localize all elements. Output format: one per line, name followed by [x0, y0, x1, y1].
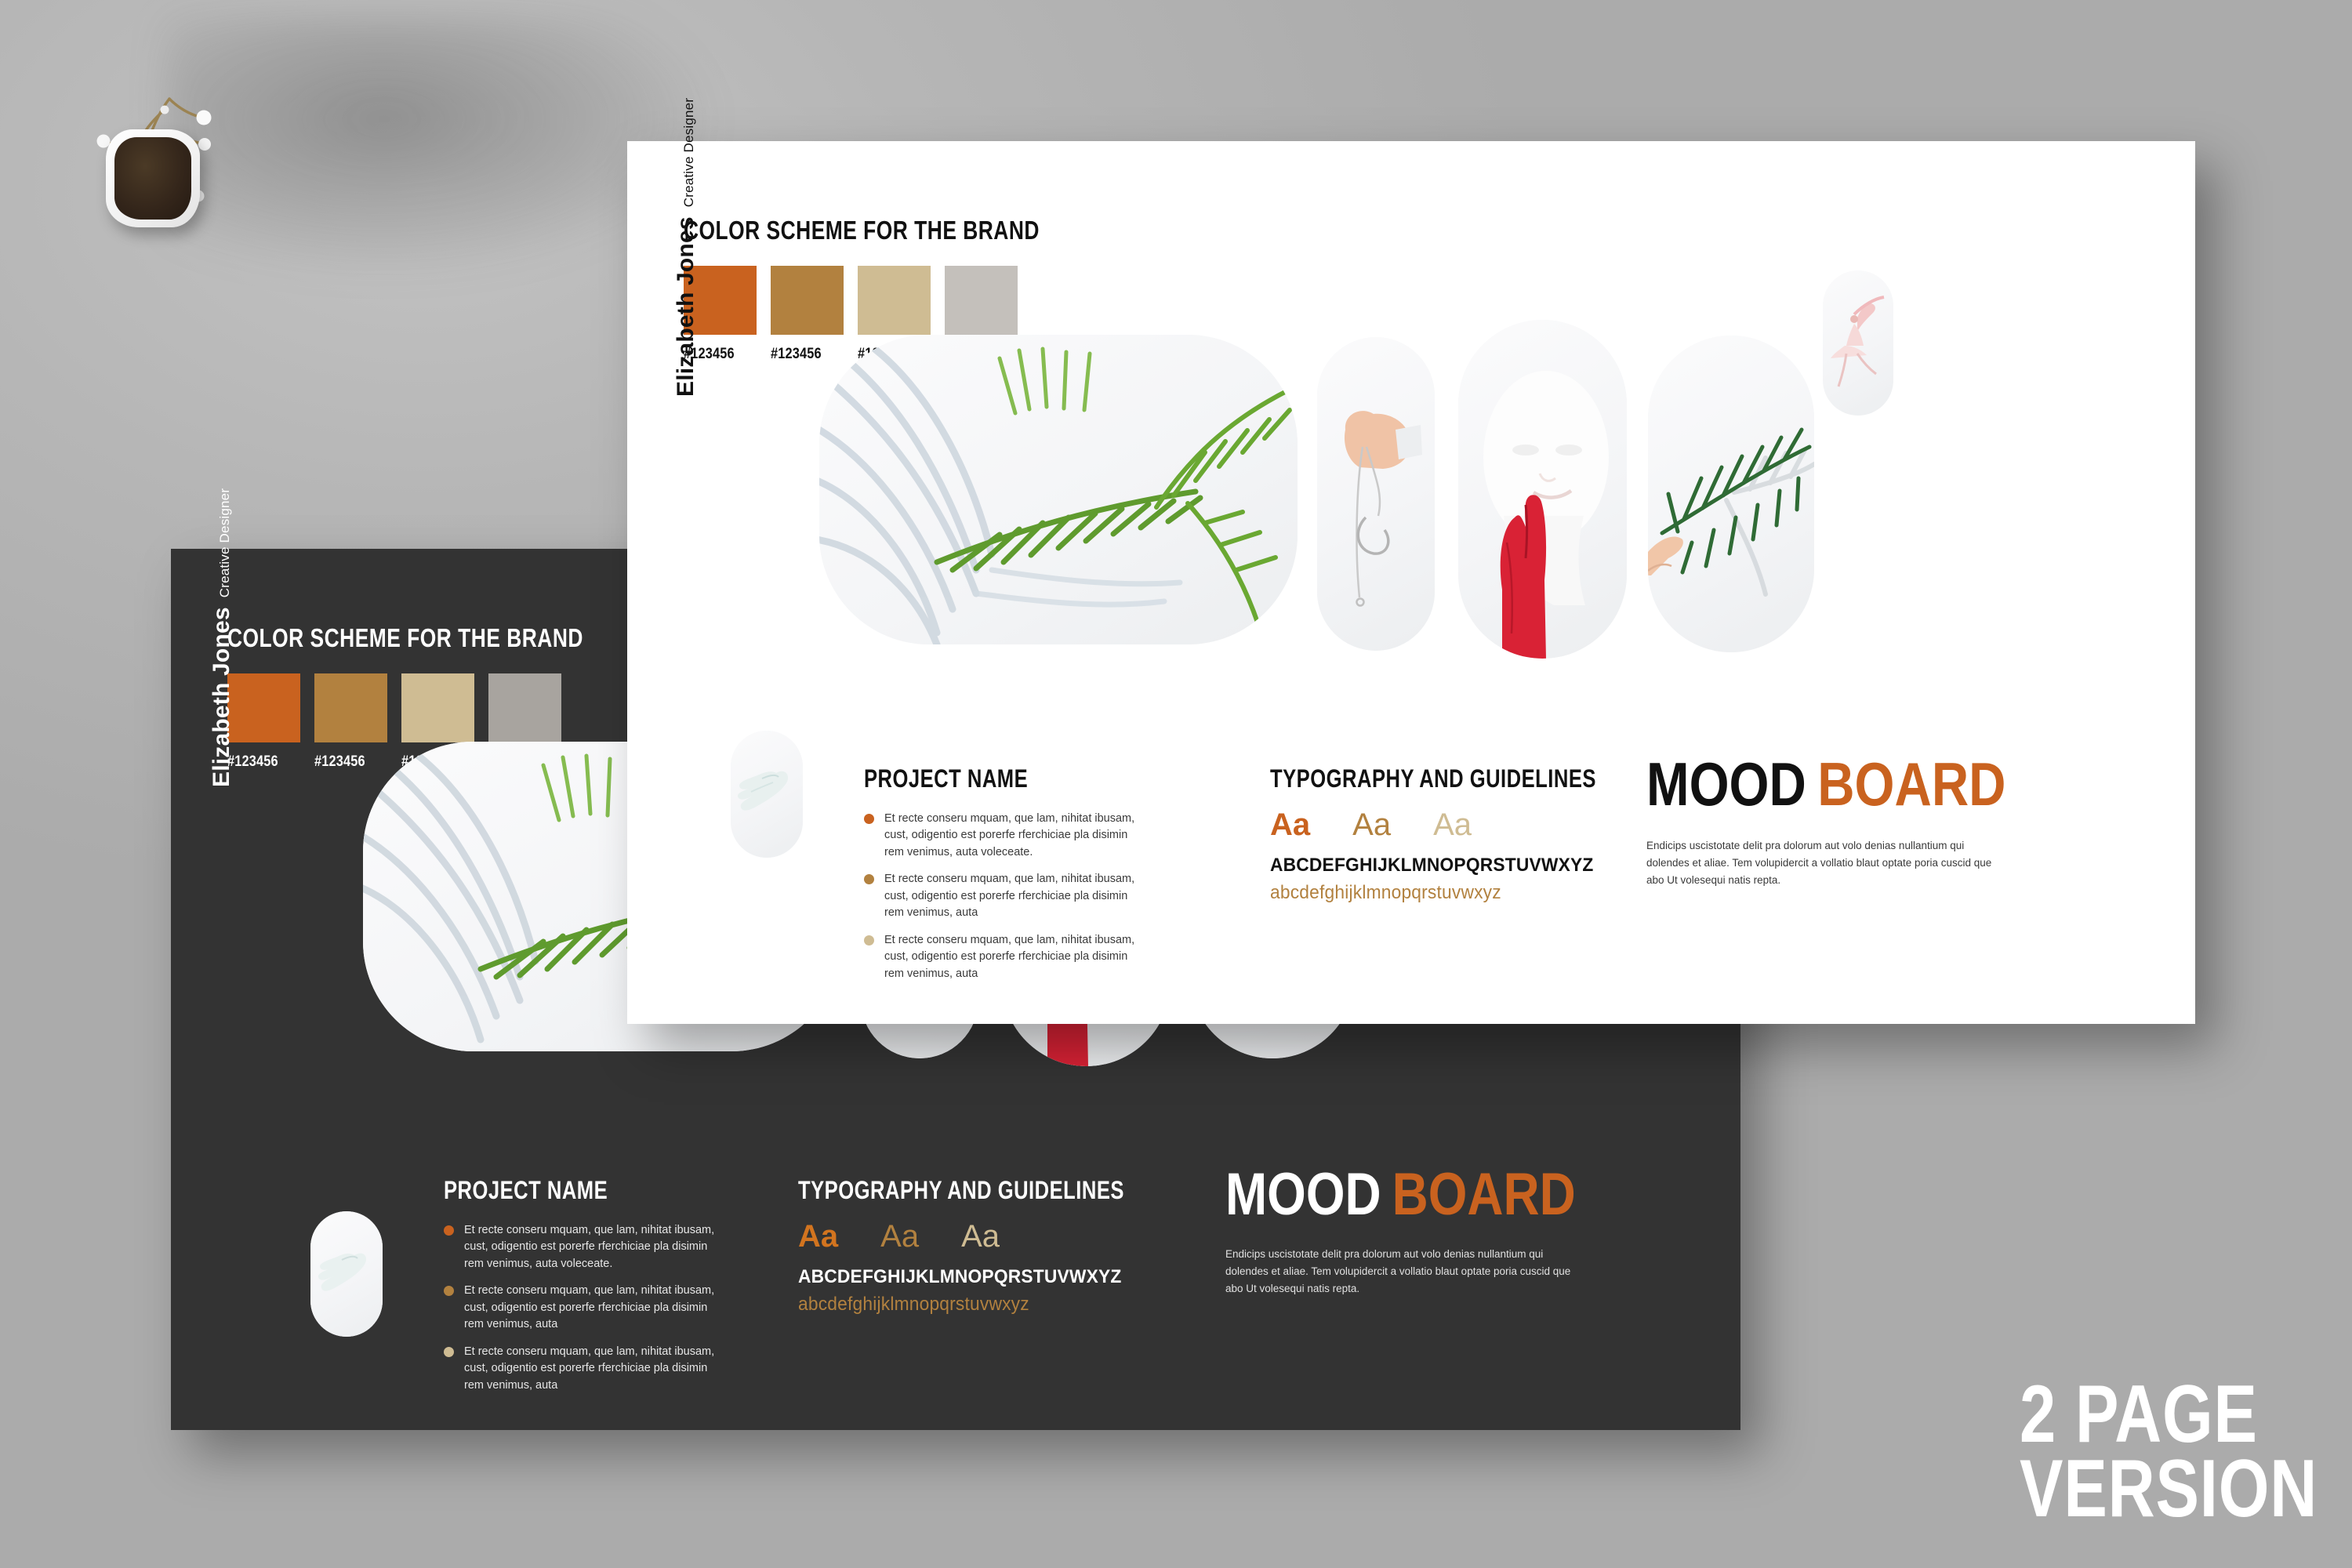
dark-mood-body: Endicips uscistotate delit pra dolorum a…: [1225, 1246, 1586, 1298]
dark-bullet-item: Et recte conseru mquam, que lam, nihitat…: [444, 1222, 723, 1272]
dark-bullet-list: Et recte conseru mquam, que lam, nihitat…: [444, 1222, 723, 1394]
light-typography-block: TYPOGRAPHY AND GUIDELINES Aa Aa Aa ABCDE…: [1270, 764, 1678, 904]
dark-mood-title: MOODBOARD: [1225, 1160, 1576, 1229]
dark-project-block: PROJECT NAME Et recte conseru mquam, que…: [444, 1176, 723, 1404]
dark-bullet-text-2: Et recte conseru mquam, que lam, nihitat…: [464, 1344, 723, 1394]
light-bullet-text-0: Et recte conseru mquam, que lam, nihitat…: [884, 811, 1143, 861]
dark-byline: Elizabeth Jones Creative Designer: [209, 488, 235, 787]
light-palm-leaf-image[interactable]: [1648, 336, 1814, 652]
light-bullet-text-1: Et recte conseru mquam, que lam, nihitat…: [884, 871, 1143, 921]
light-uppercase-specimen: ABCDEFGHIJKLMNOPQRSTUVWXYZ: [1270, 855, 1650, 877]
dark-bullet-item: Et recte conseru mquam, que lam, nihitat…: [444, 1283, 723, 1333]
dark-swatch-cell[interactable]: #123456: [227, 673, 300, 771]
dark-project-title: PROJECT NAME: [444, 1176, 667, 1205]
light-mood-word1: MOOD: [1646, 750, 1806, 818]
light-byline-name: Elizabeth Jones: [673, 216, 699, 397]
hand-holding-necklace-icon: [1317, 337, 1435, 651]
dark-mood-word2: BOARD: [1392, 1161, 1576, 1228]
light-aa-sample-2: Aa: [1433, 809, 1472, 840]
white-hand-sculpture-icon: [310, 1211, 383, 1337]
light-hand-necklace-image[interactable]: [1317, 337, 1435, 651]
light-bullet-item: Et recte conseru mquam, que lam, nihitat…: [864, 871, 1143, 921]
promo-line-2: VERSION: [2020, 1452, 2318, 1527]
light-bullet-item: Et recte conseru mquam, que lam, nihitat…: [864, 932, 1143, 982]
white-hand-sculpture-icon: [731, 731, 803, 858]
dark-swatch-1[interactable]: [314, 673, 387, 742]
dark-lowercase-specimen: abcdefghijklmnopqrstuvwxyz: [798, 1294, 1178, 1316]
dark-hand-sculpture-image[interactable]: [310, 1211, 383, 1337]
dark-bullet-dot-0: [444, 1225, 454, 1236]
dark-swatch-3[interactable]: [488, 673, 561, 742]
dark-uppercase-specimen: ABCDEFGHIJKLMNOPQRSTUVWXYZ: [798, 1266, 1178, 1288]
light-bullet-dot-0: [864, 814, 874, 824]
light-mood-word2: BOARD: [1817, 750, 2005, 818]
screenshot-stage: COLOR SCHEME FOR THE BRAND #123456 #1234…: [0, 0, 2352, 1568]
light-byline-role: Creative Designer: [681, 98, 697, 207]
dark-byline-role: Creative Designer: [217, 488, 233, 597]
dark-aa-sample-0: Aa: [798, 1221, 838, 1252]
light-byline: Elizabeth Jones Creative Designer: [673, 98, 699, 397]
light-swatch-2[interactable]: [858, 266, 931, 335]
light-hand-sculpture-image[interactable]: [731, 731, 803, 858]
light-aa-sample-0: Aa: [1270, 809, 1310, 840]
dark-typography-title: TYPOGRAPHY AND GUIDELINES: [798, 1176, 1124, 1205]
light-aa-sample-1: Aa: [1352, 809, 1391, 840]
plant-pot: [106, 129, 200, 227]
light-color-scheme-title: COLOR SCHEME FOR THE BRAND: [684, 216, 1040, 245]
light-project-title: PROJECT NAME: [864, 764, 1087, 793]
dark-bullet-text-0: Et recte conseru mquam, que lam, nihitat…: [464, 1222, 723, 1272]
light-bullet-item: Et recte conseru mquam, que lam, nihitat…: [864, 811, 1143, 861]
palm-fronds-shadow-icon: [819, 335, 1298, 644]
light-bullet-list: Et recte conseru mquam, que lam, nihitat…: [864, 811, 1143, 982]
light-swatch-1[interactable]: [771, 266, 844, 335]
light-mood-title: MOODBOARD: [1646, 749, 2005, 820]
light-typography-title: TYPOGRAPHY AND GUIDELINES: [1270, 764, 1596, 793]
dark-bullet-item: Et recte conseru mquam, que lam, nihitat…: [444, 1344, 723, 1394]
ballerina-illustration-icon: [1823, 270, 1893, 416]
light-mood-block: MOODBOARD Endicips uscistotate delit pra…: [1646, 749, 2074, 889]
dark-mood-block: MOODBOARD Endicips uscistotate delit pra…: [1225, 1160, 1642, 1298]
dark-swatch-2[interactable]: [401, 673, 474, 742]
dark-mood-word1: MOOD: [1225, 1161, 1381, 1228]
dark-swatch-code-0: #123456: [227, 753, 290, 771]
light-palm-fronds-image[interactable]: [819, 335, 1298, 644]
slide-light[interactable]: COLOR SCHEME FOR THE BRAND #123456 #1234…: [627, 141, 2195, 1024]
dark-aa-sample-2: Aa: [961, 1221, 1000, 1252]
dark-color-scheme-title: COLOR SCHEME FOR THE BRAND: [227, 623, 583, 653]
light-swatch-3[interactable]: [945, 266, 1018, 335]
dark-bullet-dot-2: [444, 1347, 454, 1357]
light-project-block: PROJECT NAME Et recte conseru mquam, que…: [864, 764, 1143, 993]
light-bullet-dot-1: [864, 874, 874, 884]
light-lowercase-specimen: abcdefghijklmnopqrstuvwxyz: [1270, 882, 1650, 904]
light-mood-body: Endicips uscistotate delit pra dolorum a…: [1646, 837, 2007, 889]
light-bullet-dot-2: [864, 935, 874, 946]
mannequin-head-red-hand-icon: [1458, 320, 1627, 659]
light-bullet-text-2: Et recte conseru mquam, que lam, nihitat…: [884, 932, 1143, 982]
dark-aa-sample-1: Aa: [880, 1221, 919, 1252]
light-aa-row: Aa Aa Aa: [1270, 809, 1678, 840]
dark-aa-row: Aa Aa Aa: [798, 1221, 1206, 1252]
light-mannequin-head-image[interactable]: [1458, 320, 1627, 659]
dark-swatch-0[interactable]: [227, 673, 300, 742]
promo-label: 2 PAGE VERSION: [1945, 1377, 2318, 1527]
dark-byline-name: Elizabeth Jones: [209, 607, 235, 787]
hand-holding-palm-leaf-icon: [1648, 336, 1814, 652]
promo-line-1: 2 PAGE: [2020, 1377, 2318, 1453]
light-ballerina-image[interactable]: [1823, 270, 1893, 416]
dark-bullet-dot-1: [444, 1286, 454, 1296]
dark-typography-block: TYPOGRAPHY AND GUIDELINES Aa Aa Aa ABCDE…: [798, 1176, 1206, 1316]
dark-bullet-text-1: Et recte conseru mquam, que lam, nihitat…: [464, 1283, 723, 1333]
